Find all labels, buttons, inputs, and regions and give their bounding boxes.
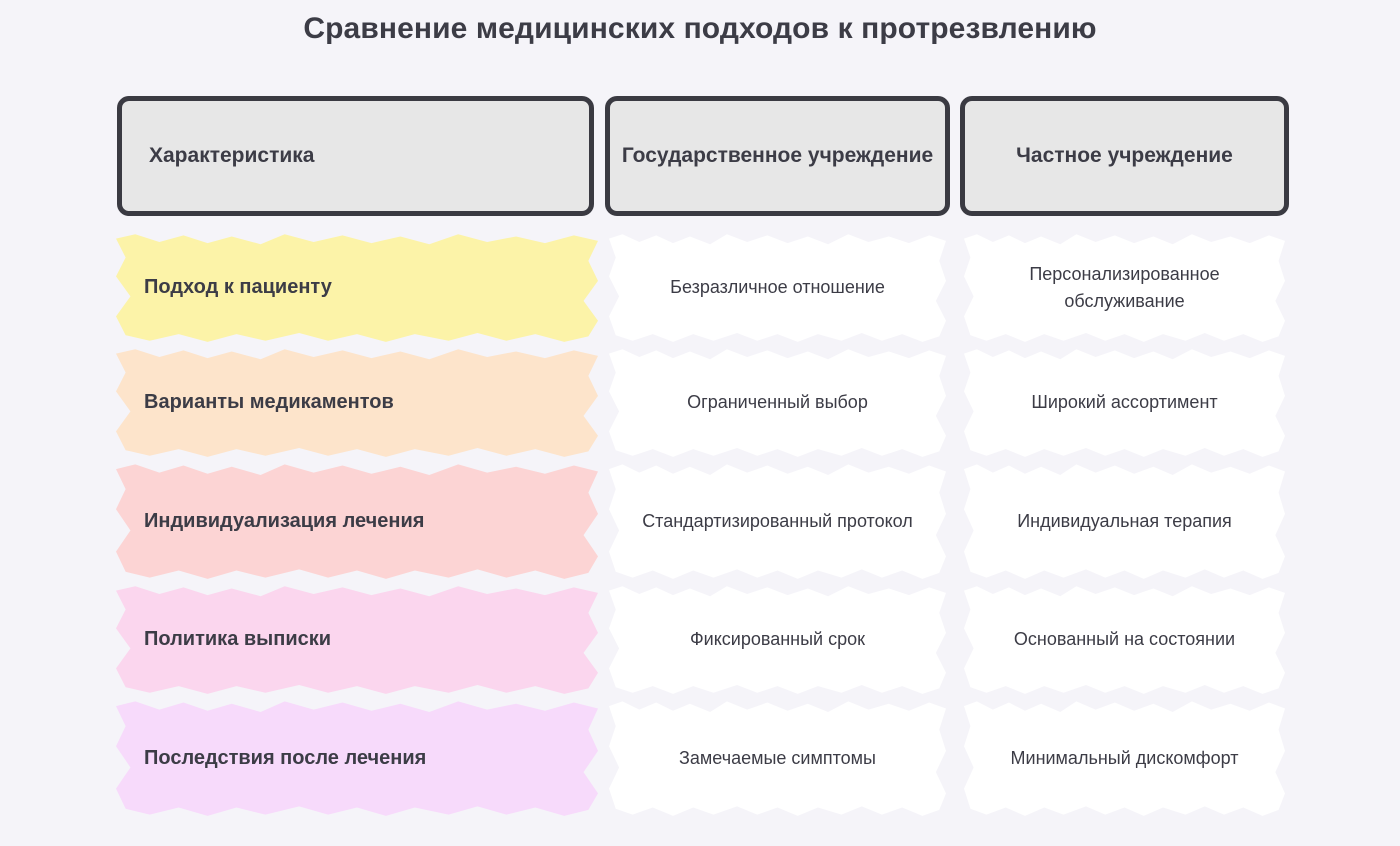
row-label-cell: Последствия после лечения xyxy=(117,697,594,819)
row-value-public-cell: Ограниченный выбор xyxy=(605,345,950,460)
table-row: Последствия после лечения Замечаемые сим… xyxy=(117,697,1289,819)
comparison-table: Характеристика Государственное учреждени… xyxy=(117,96,1289,819)
row-value-public-cell: Безразличное отношение xyxy=(605,230,950,345)
row-value-public: Стандартизированный протокол xyxy=(605,508,950,534)
page-title: Сравнение медицинских подходов к протрез… xyxy=(0,12,1400,46)
column-header-characteristic-label: Характеристика xyxy=(149,142,314,170)
row-label-cell: Варианты медикаментов xyxy=(117,345,594,460)
column-header-private-institution-label: Частное учреждение xyxy=(1016,142,1233,170)
row-value-private-cell: Основанный на состоянии xyxy=(960,582,1289,697)
column-header-public-institution: Государственное учреждение xyxy=(605,96,950,216)
row-value-private: Индивидуальная терапия xyxy=(960,508,1289,534)
row-value-private-cell: Персонализированное обслуживание xyxy=(960,230,1289,345)
row-label: Политика выписки xyxy=(117,626,351,653)
row-value-public-cell: Фиксированный срок xyxy=(605,582,950,697)
row-label-cell: Политика выписки xyxy=(117,582,594,697)
table-row: Индивидуализация лечения Стандартизирова… xyxy=(117,460,1289,582)
row-value-private-cell: Индивидуальная терапия xyxy=(960,460,1289,582)
row-value-private: Широкий ассортимент xyxy=(960,389,1289,415)
column-header-private-institution: Частное учреждение xyxy=(960,96,1289,216)
row-label: Подход к пациенту xyxy=(117,274,352,301)
table-row: Варианты медикаментов Ограниченный выбор… xyxy=(117,345,1289,460)
column-header-characteristic: Характеристика xyxy=(117,96,594,216)
row-label: Последствия после лечения xyxy=(117,745,446,772)
row-value-private: Минимальный дискомфорт xyxy=(960,745,1289,771)
row-value-private: Персонализированное обслуживание xyxy=(960,261,1289,313)
row-value-public: Ограниченный выбор xyxy=(605,389,950,415)
row-label-cell: Индивидуализация лечения xyxy=(117,460,594,582)
table-row: Подход к пациенту Безразличное отношение… xyxy=(117,230,1289,345)
row-value-public: Безразличное отношение xyxy=(605,274,950,300)
row-label: Индивидуализация лечения xyxy=(117,508,444,535)
table-header-row: Характеристика Государственное учреждени… xyxy=(117,96,1289,216)
table-body: Подход к пациенту Безразличное отношение… xyxy=(117,230,1289,819)
row-value-public: Замечаемые симптомы xyxy=(605,745,950,771)
row-value-public: Фиксированный срок xyxy=(605,626,950,652)
row-value-public-cell: Стандартизированный протокол xyxy=(605,460,950,582)
row-label: Варианты медикаментов xyxy=(117,389,414,416)
row-value-private-cell: Минимальный дискомфорт xyxy=(960,697,1289,819)
row-value-public-cell: Замечаемые симптомы xyxy=(605,697,950,819)
row-value-private-cell: Широкий ассортимент xyxy=(960,345,1289,460)
row-value-private: Основанный на состоянии xyxy=(960,626,1289,652)
row-label-cell: Подход к пациенту xyxy=(117,230,594,345)
table-row: Политика выписки Фиксированный срок Осно… xyxy=(117,582,1289,697)
column-header-public-institution-label: Государственное учреждение xyxy=(622,142,933,170)
